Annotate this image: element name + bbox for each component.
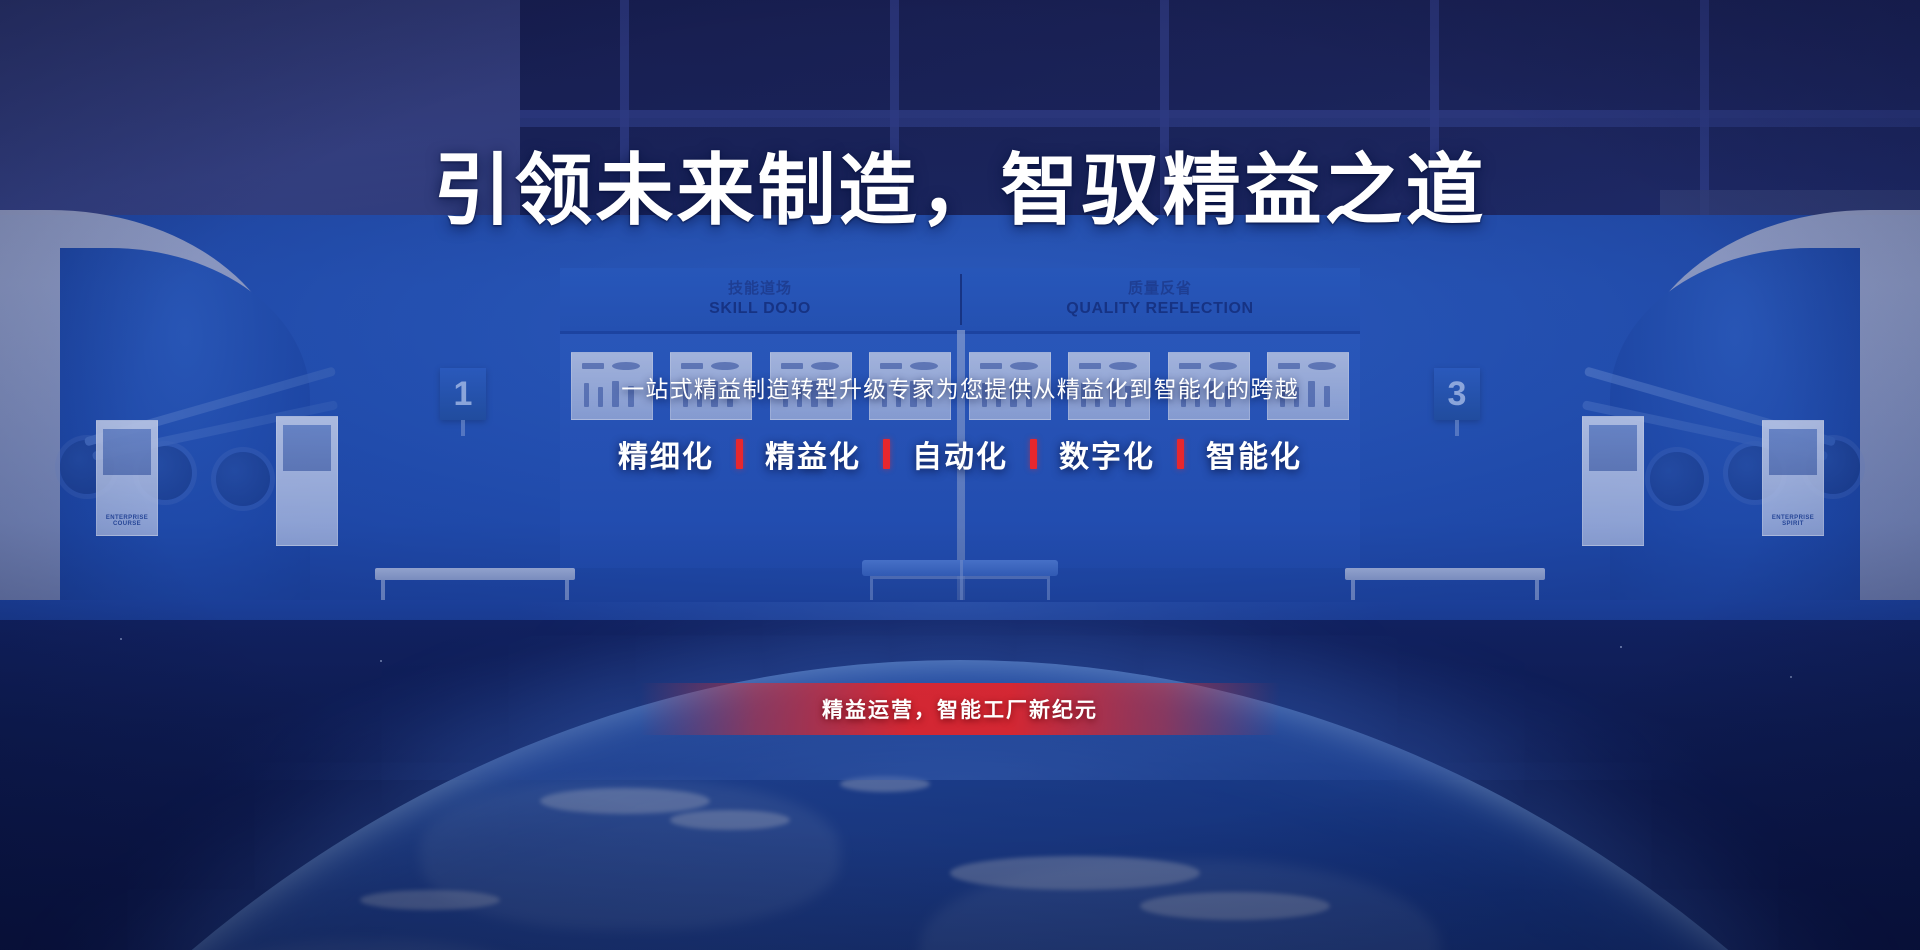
keyword-item: 精益化	[743, 432, 883, 476]
keyword-separator-icon	[1030, 439, 1037, 469]
tagline-badge: 精益运营，智能工厂新纪元	[640, 683, 1280, 735]
keyword-list: 精细化 精益化 自动化 数字化 智能化	[0, 432, 1920, 476]
keyword-item: 自动化	[890, 432, 1030, 476]
keyword-separator-icon	[883, 439, 890, 469]
keyword-item: 精细化	[596, 432, 736, 476]
keyword-separator-icon	[1177, 439, 1184, 469]
banner-content: 引领未来制造，智驭精益之道 一站式精益制造转型升级专家为您提供从精益化到智能化的…	[0, 0, 1920, 950]
keyword-item: 数字化	[1037, 432, 1177, 476]
tagline-text: 精益运营，智能工厂新纪元	[822, 694, 1098, 724]
lean-manufacturing-banner: 技能道场 SKILL DOJO 质量反省 QUALITY REFLECTION	[0, 0, 1920, 950]
banner-headline: 引领未来制造，智驭精益之道	[0, 148, 1920, 234]
keyword-item: 智能化	[1184, 432, 1324, 476]
banner-subheadline: 一站式精益制造转型升级专家为您提供从精益化到智能化的跨越	[0, 370, 1920, 404]
keyword-separator-icon	[736, 439, 743, 469]
